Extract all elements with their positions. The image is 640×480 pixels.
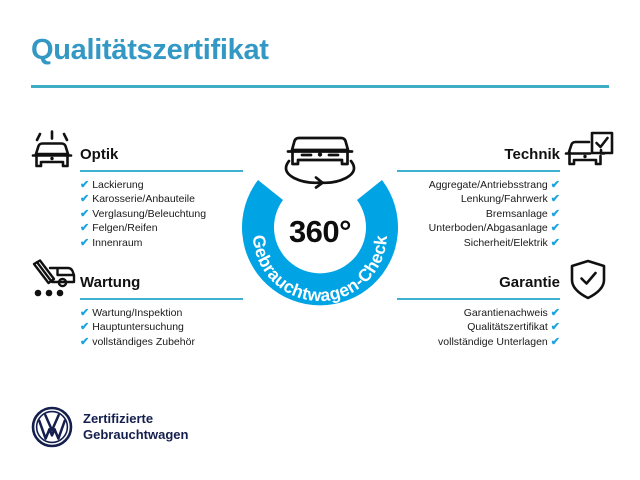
section-optik-heading: Optik [80, 146, 118, 163]
check-icon: ✔ [551, 179, 560, 191]
list-item: Aggregate/Antriebsstrang✔ [429, 178, 560, 192]
list-item-label: Qualitätszertifikat [467, 321, 548, 333]
list-item: ✔Felgen/Reifen [80, 221, 206, 235]
pen-car-service-icon [24, 258, 80, 302]
check-icon: ✔ [80, 321, 89, 333]
list-item: ✔Wartung/Inspektion [80, 306, 195, 320]
check-icon: ✔ [80, 307, 89, 319]
certificate-page: Qualitätszertifikat Optik ✔Lackierung ✔K… [0, 0, 640, 480]
list-item: Unterboden/Abgasanlage✔ [429, 221, 560, 235]
section-technik-list: Aggregate/Antriebsstrang✔ Lenkung/Fahrwe… [429, 178, 560, 250]
list-item-label: Aggregate/Antriebsstrang [429, 179, 548, 191]
car-rotation-360-icon [286, 138, 354, 188]
list-item-label: Unterboden/Abgasanlage [429, 222, 548, 234]
list-item-label: Hauptuntersuchung [92, 321, 184, 333]
check-icon: ✔ [551, 321, 560, 333]
list-item: ✔Lackierung [80, 178, 206, 192]
car-checkbox-icon [560, 130, 616, 174]
check-icon: ✔ [551, 208, 560, 220]
list-item-label: Garantienachweis [464, 307, 548, 319]
check-icon: ✔ [551, 222, 560, 234]
list-item: ✔Innenraum [80, 236, 206, 250]
list-item: Sicherheit/Elektrik✔ [429, 236, 560, 250]
list-item: vollständige Unterlagen✔ [438, 335, 560, 349]
section-technik-divider [397, 170, 560, 172]
list-item: ✔Karosserie/Anbauteile [80, 192, 206, 206]
list-item-label: Sicherheit/Elektrik [464, 237, 548, 249]
check-icon: ✔ [80, 193, 89, 205]
list-item: ✔vollständiges Zubehör [80, 335, 195, 349]
list-item-label: vollständiges Zubehör [92, 336, 195, 348]
brand-line-2: Gebrauchtwagen [83, 427, 188, 443]
check-icon: ✔ [551, 237, 560, 249]
car-shine-icon [24, 130, 80, 174]
list-item: ✔Hauptuntersuchung [80, 320, 195, 334]
section-technik-heading: Technik [504, 146, 560, 163]
list-item-label: vollständige Unterlagen [438, 336, 548, 348]
list-item: Lenkung/Fahrwerk✔ [429, 192, 560, 206]
badge-center-label: 360° [225, 214, 415, 250]
list-item-label: Lackierung [92, 179, 143, 191]
volkswagen-logo [31, 406, 73, 453]
check-icon: ✔ [551, 307, 560, 319]
list-item: Qualitätszertifikat✔ [438, 320, 560, 334]
badge-360-gebrauchtwagen-check: Gebrauchtwagen-Check 360° [225, 122, 415, 322]
brand-name: Zertifizierte Gebrauchtwagen [83, 411, 188, 443]
section-optik-list: ✔Lackierung ✔Karosserie/Anbauteile ✔Verg… [80, 178, 206, 250]
list-item-label: Bremsanlage [486, 208, 548, 220]
list-item: ✔Verglasung/Beleuchtung [80, 207, 206, 221]
section-garantie-divider [397, 298, 560, 300]
section-garantie-heading: Garantie [499, 274, 560, 291]
section-wartung-divider [80, 298, 243, 300]
page-title: Qualitätszertifikat [31, 34, 269, 67]
list-item-label: Felgen/Reifen [92, 222, 157, 234]
list-item-label: Lenkung/Fahrwerk [461, 193, 548, 205]
list-item-label: Wartung/Inspektion [92, 307, 182, 319]
list-item-label: Innenraum [92, 237, 142, 249]
check-icon: ✔ [551, 336, 560, 348]
section-wartung-list: ✔Wartung/Inspektion ✔Hauptuntersuchung ✔… [80, 306, 195, 349]
check-icon: ✔ [80, 222, 89, 234]
check-icon: ✔ [80, 179, 89, 191]
list-item: Bremsanlage✔ [429, 207, 560, 221]
list-item-label: Karosserie/Anbauteile [92, 193, 195, 205]
section-garantie-list: Garantienachweis✔ Qualitätszertifikat✔ v… [438, 306, 560, 349]
shield-check-icon [560, 258, 616, 302]
section-optik-divider [80, 170, 243, 172]
check-icon: ✔ [551, 193, 560, 205]
list-item-label: Verglasung/Beleuchtung [92, 208, 206, 220]
brand-line-1: Zertifizierte [83, 411, 188, 427]
title-divider [31, 85, 609, 88]
section-wartung-heading: Wartung [80, 274, 140, 291]
check-icon: ✔ [80, 336, 89, 348]
check-icon: ✔ [80, 208, 89, 220]
list-item: Garantienachweis✔ [438, 306, 560, 320]
check-icon: ✔ [80, 237, 89, 249]
